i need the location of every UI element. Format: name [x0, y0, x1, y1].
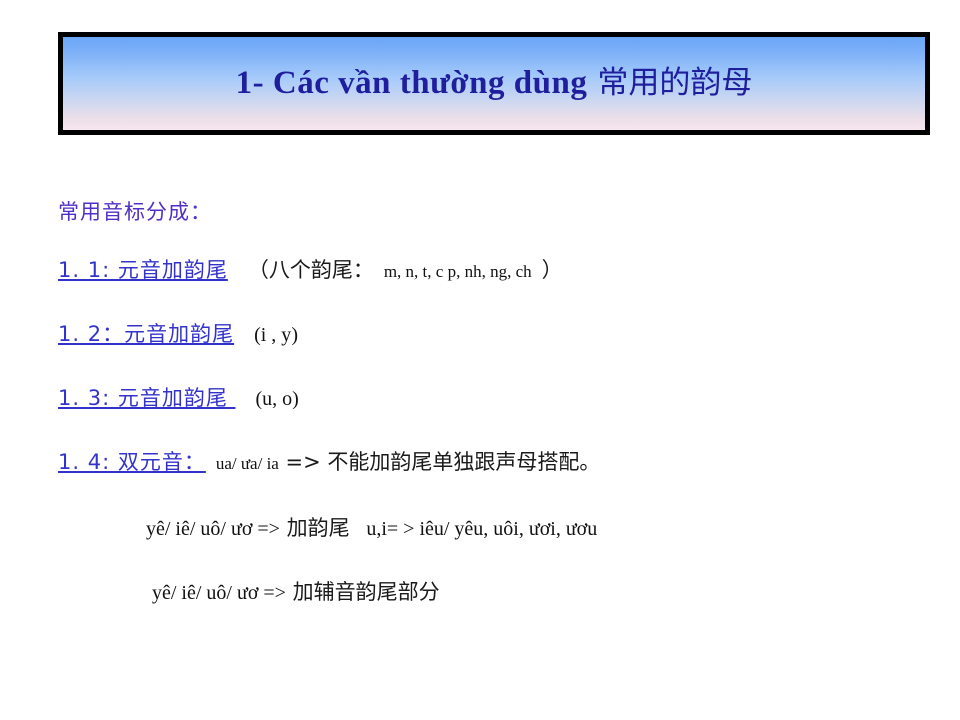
detail-latin-1-1: m, n, t, c p, nh, ng, ch	[384, 262, 532, 281]
detail-open-1-2: (	[254, 324, 261, 346]
title-banner: 1- Các vần thường dùng常用的韵母	[58, 32, 930, 135]
link-item-1-2[interactable]: 1. 2：元音加韵尾	[58, 322, 234, 346]
detail-open-1-1: （八个韵尾：	[248, 258, 374, 282]
cont-1-latin-end: u,i= > iêu/ yêu, uôi, ươi, ươu	[366, 518, 597, 540]
detail-latin-1-4: ua/ ưa/ ia	[216, 454, 279, 473]
body-content: 常用音标分成： 1. 1: 元音加韵尾（八个韵尾：m, n, t, c p, n…	[0, 196, 960, 640]
intro-line: 常用音标分成：	[0, 196, 960, 254]
continuation-line-2: yê/ iê/ uô/ ươ => 加辅音韵尾部分	[0, 576, 960, 640]
link-item-1-3[interactable]: 1. 3: 元音加韵尾	[58, 386, 236, 410]
list-item-1-1: 1. 1: 元音加韵尾（八个韵尾：m, n, t, c p, nh, ng, c…	[0, 254, 960, 318]
detail-latin-1-3: u, o	[262, 388, 292, 410]
title-cjk-part: 常用的韵母	[597, 65, 752, 101]
detail-latin-1-2: i , y	[261, 324, 292, 346]
link-item-1-1[interactable]: 1. 1: 元音加韵尾	[58, 258, 228, 282]
list-item-1-4: 1. 4: 双元音：ua/ ưa/ ia => 不能加韵尾单独跟声母搭配。	[0, 446, 960, 512]
title-latin-part: 1- Các vần thường dùng	[236, 65, 588, 101]
intro-text: 常用音标分成：	[58, 200, 212, 224]
list-item-1-2: 1. 2：元音加韵尾(i , y)	[0, 318, 960, 382]
continuation-line-1: yê/ iê/ uô/ ươ => 加韵尾 u,i= > iêu/ yêu, u…	[0, 512, 960, 576]
cont-1-latin-start: yê/ iê/ uô/ ươ =>	[146, 518, 280, 540]
detail-close-1-2: )	[291, 324, 298, 346]
cont-1-cjk-mid: 加韵尾	[280, 516, 356, 540]
cont-2-cjk-mid: 加辅音韵尾部分	[286, 580, 440, 604]
page-title: 1- Các vần thường dùng常用的韵母	[236, 65, 753, 101]
detail-close-1-3: )	[292, 388, 299, 410]
list-item-1-3: 1. 3: 元音加韵尾 (u, o)	[0, 382, 960, 446]
detail-close-1-1: ）	[542, 258, 563, 282]
link-item-1-4[interactable]: 1. 4: 双元音：	[58, 450, 206, 474]
cont-2-latin-start: yê/ iê/ uô/ ươ =>	[152, 582, 286, 604]
detail-cjk-1-4: => 不能加韵尾单独跟声母搭配。	[279, 450, 601, 474]
